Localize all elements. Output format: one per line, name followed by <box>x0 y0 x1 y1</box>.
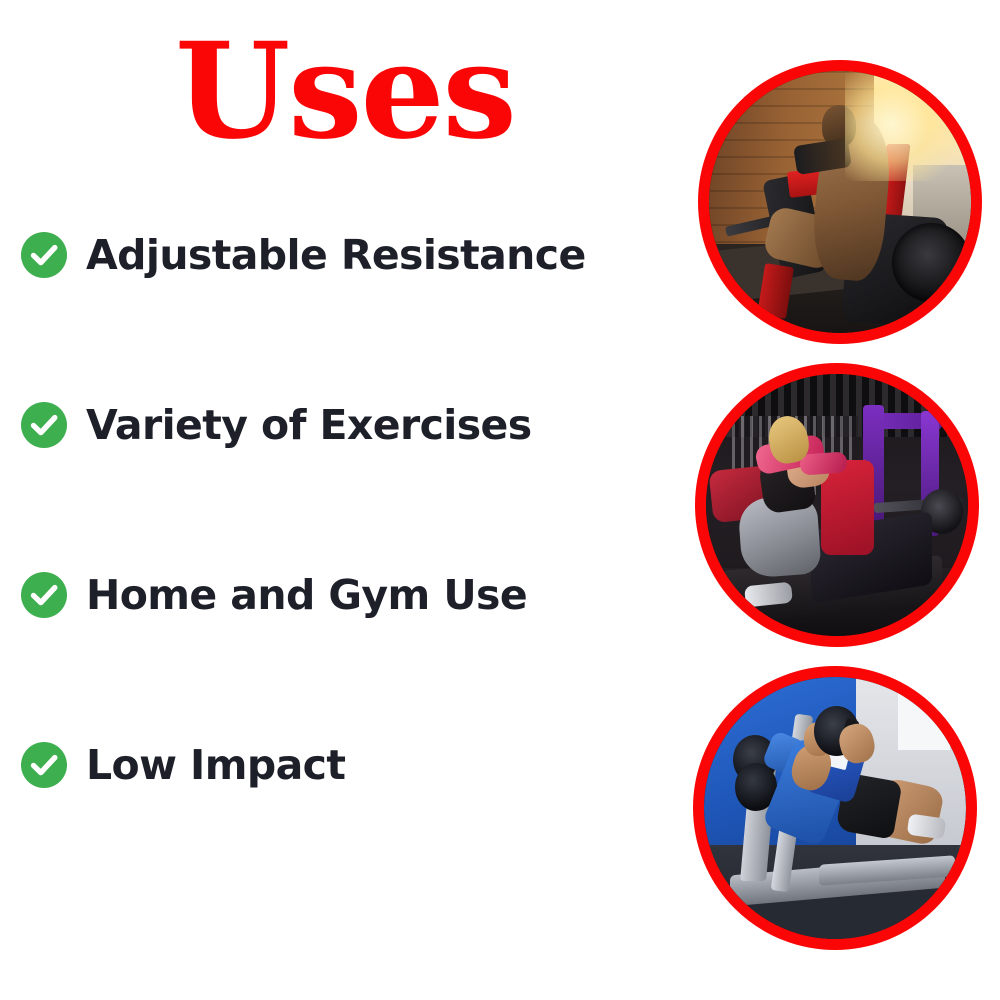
list-item-label: Home and Gym Use <box>86 571 527 619</box>
photo-leg-press-blue-gym <box>693 666 977 950</box>
list-item-label: Variety of Exercises <box>86 401 532 449</box>
photo-art <box>709 71 971 333</box>
feature-list: Adjustable Resistance Variety of Exercis… <box>20 231 660 789</box>
check-circle-icon <box>20 741 68 789</box>
check-circle-icon <box>20 571 68 619</box>
check-circle-icon <box>20 231 68 279</box>
list-item: Low Impact <box>20 741 660 789</box>
list-item: Variety of Exercises <box>20 401 660 449</box>
photo-art <box>706 374 968 636</box>
photo-leg-press-wood-gym <box>698 60 982 344</box>
list-item-label: Adjustable Resistance <box>86 231 586 279</box>
list-item-label: Low Impact <box>86 741 345 789</box>
uses-poster: Uses Adjustable Resistance Variety of Ex… <box>0 0 1000 1000</box>
page-title: Uses <box>0 26 690 158</box>
photo-hack-squat-woman <box>695 363 979 647</box>
list-item: Home and Gym Use <box>20 571 660 619</box>
check-circle-icon <box>20 401 68 449</box>
list-item: Adjustable Resistance <box>20 231 660 279</box>
photo-art <box>704 677 966 939</box>
